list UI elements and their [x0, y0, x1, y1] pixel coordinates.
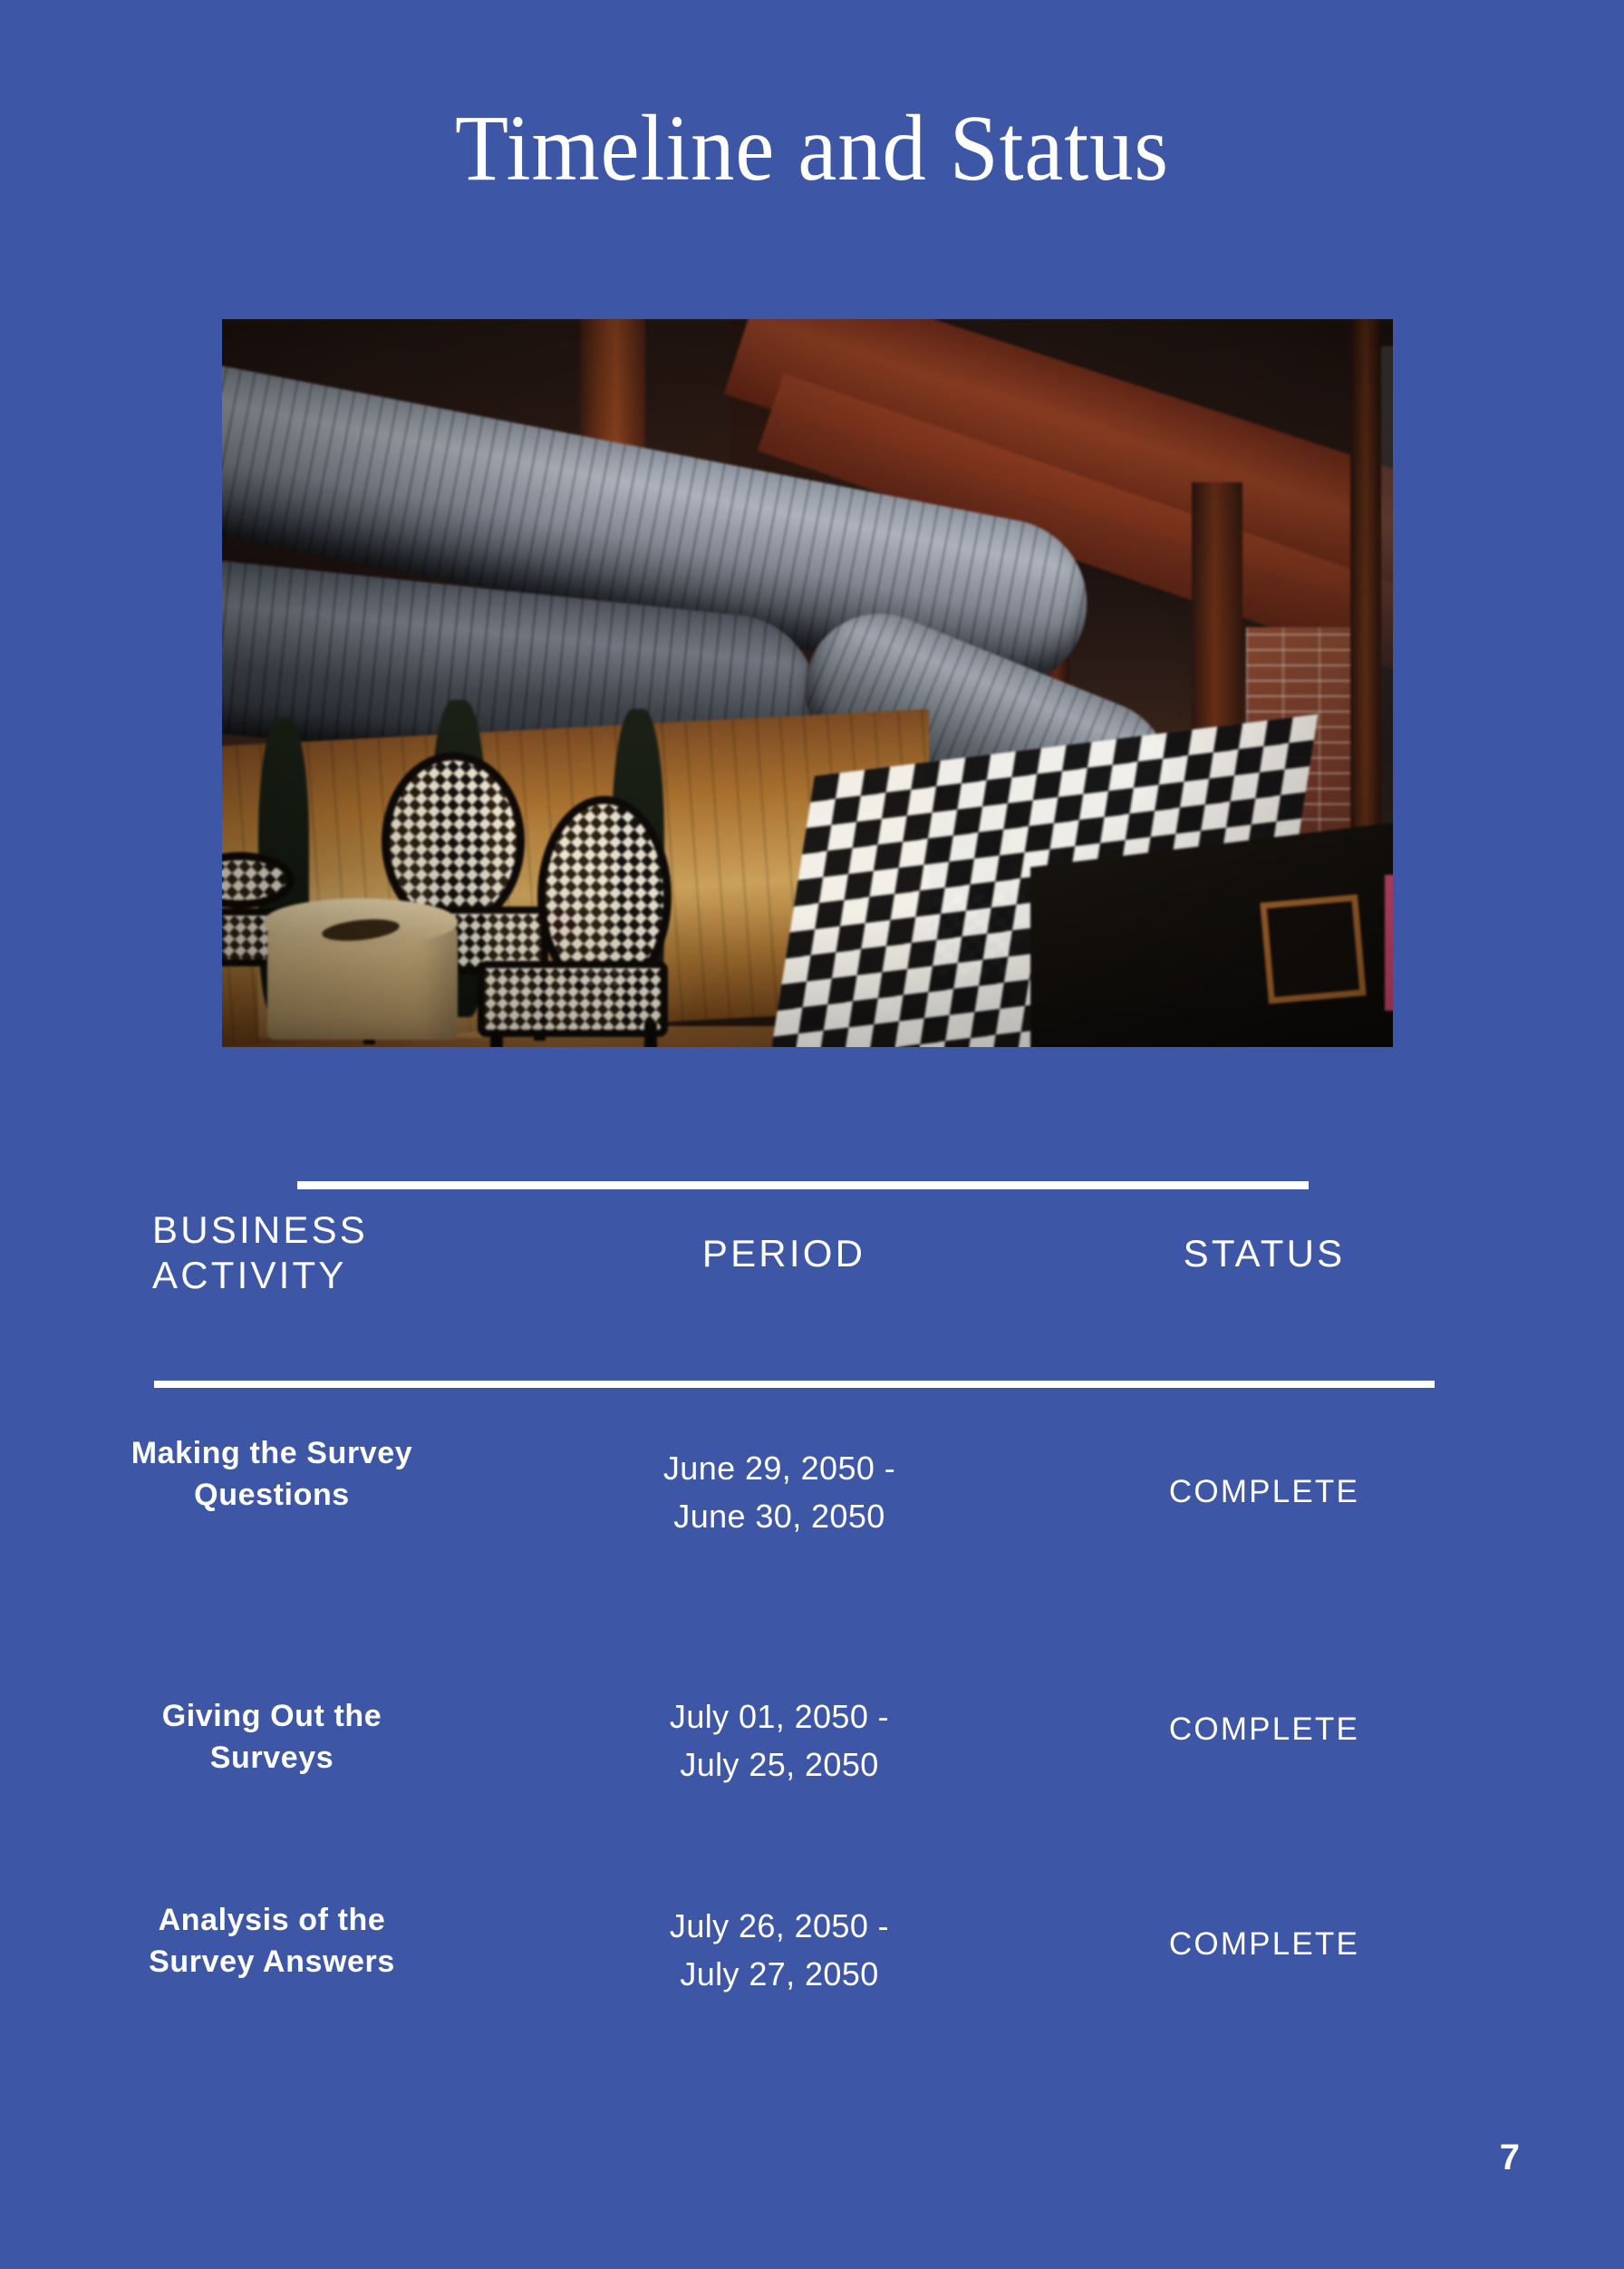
status-badge: COMPLETE: [1097, 1926, 1432, 1963]
slide-canvas: Timeline and Status: [0, 0, 1624, 2269]
photo-chalkboard: [1260, 895, 1366, 1004]
photo-armchair: [478, 961, 668, 1037]
cell-period-end: July 25, 2050: [562, 1741, 997, 1789]
cell-period-end: June 30, 2050: [562, 1493, 997, 1541]
cell-business-activity: Giving Out the Surveys: [127, 1695, 417, 1779]
cell-period: June 29, 2050 - June 30, 2050: [562, 1445, 997, 1540]
hero-photo: [222, 319, 1393, 1047]
status-badge: COMPLETE: [1097, 1474, 1432, 1510]
cell-period-start: July 26, 2050 -: [562, 1903, 997, 1951]
photo-interior-scene: [222, 319, 1393, 1047]
photo-pink-accent: [1385, 875, 1393, 1011]
photo-chair-leg: [490, 1032, 503, 1047]
column-header-period: PERIOD: [634, 1231, 933, 1276]
cell-period-end: July 27, 2050: [562, 1951, 997, 1999]
cell-business-activity: Analysis of the Survey Answers: [127, 1899, 417, 1983]
column-header-business-activity: BUSINESS ACTIVITY: [152, 1207, 451, 1297]
table-header-row: BUSINESS ACTIVITY PERIOD STATUS: [0, 1207, 1624, 1362]
photo-chair-leg: [644, 1023, 657, 1047]
table-top-rule: [297, 1181, 1309, 1189]
column-header-status: STATUS: [1115, 1231, 1414, 1276]
cell-period-start: July 01, 2050 -: [562, 1693, 997, 1741]
status-badge: COMPLETE: [1097, 1711, 1432, 1748]
page-title: Timeline and Status: [57, 98, 1568, 199]
cell-period: July 01, 2050 - July 25, 2050: [562, 1693, 997, 1789]
table-header-rule: [154, 1381, 1435, 1388]
cell-business-activity: Making the Survey Questions: [127, 1432, 417, 1516]
cell-period-start: June 29, 2050 -: [562, 1445, 997, 1493]
cell-period: July 26, 2050 - July 27, 2050: [562, 1903, 997, 1998]
page-number: 7: [1500, 2138, 1520, 2178]
